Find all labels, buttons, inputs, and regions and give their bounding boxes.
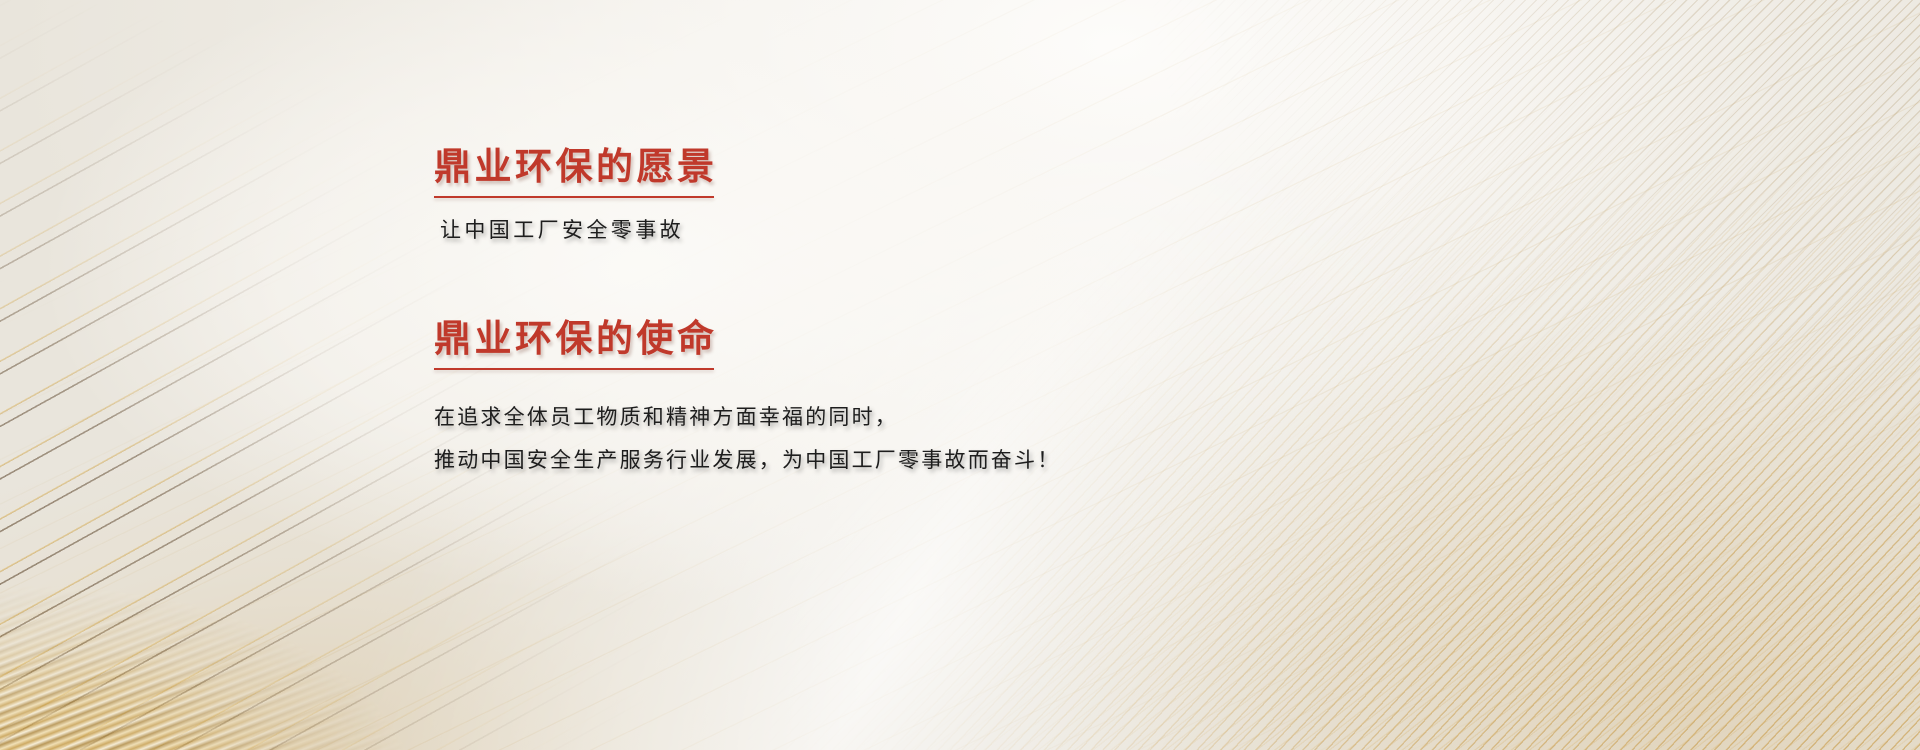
- banner-content: 鼎业环保的愿景 让中国工厂安全零事故 鼎业环保的使命 在追求全体员工物质和精神方…: [434, 148, 1434, 482]
- mission-body: 在追求全体员工物质和精神方面幸福的同时， 推动中国安全生产服务行业发展，为中国工…: [434, 396, 1434, 482]
- mission-body-line-1: 在追求全体员工物质和精神方面幸福的同时，: [434, 396, 1434, 439]
- banner-root: 鼎业环保的愿景 让中国工厂安全零事故 鼎业环保的使命 在追求全体员工物质和精神方…: [0, 0, 1920, 750]
- mission-block: 鼎业环保的使命 在追求全体员工物质和精神方面幸福的同时， 推动中国安全生产服务行…: [434, 320, 1434, 482]
- mission-heading: 鼎业环保的使命: [434, 320, 718, 370]
- vision-heading: 鼎业环保的愿景: [434, 148, 718, 198]
- mission-body-line-2: 推动中国安全生产服务行业发展，为中国工厂零事故而奋斗！: [434, 439, 1434, 482]
- vision-block: 鼎业环保的愿景 让中国工厂安全零事故: [434, 148, 1434, 246]
- vision-subtitle: 让中国工厂安全零事故: [440, 215, 1434, 247]
